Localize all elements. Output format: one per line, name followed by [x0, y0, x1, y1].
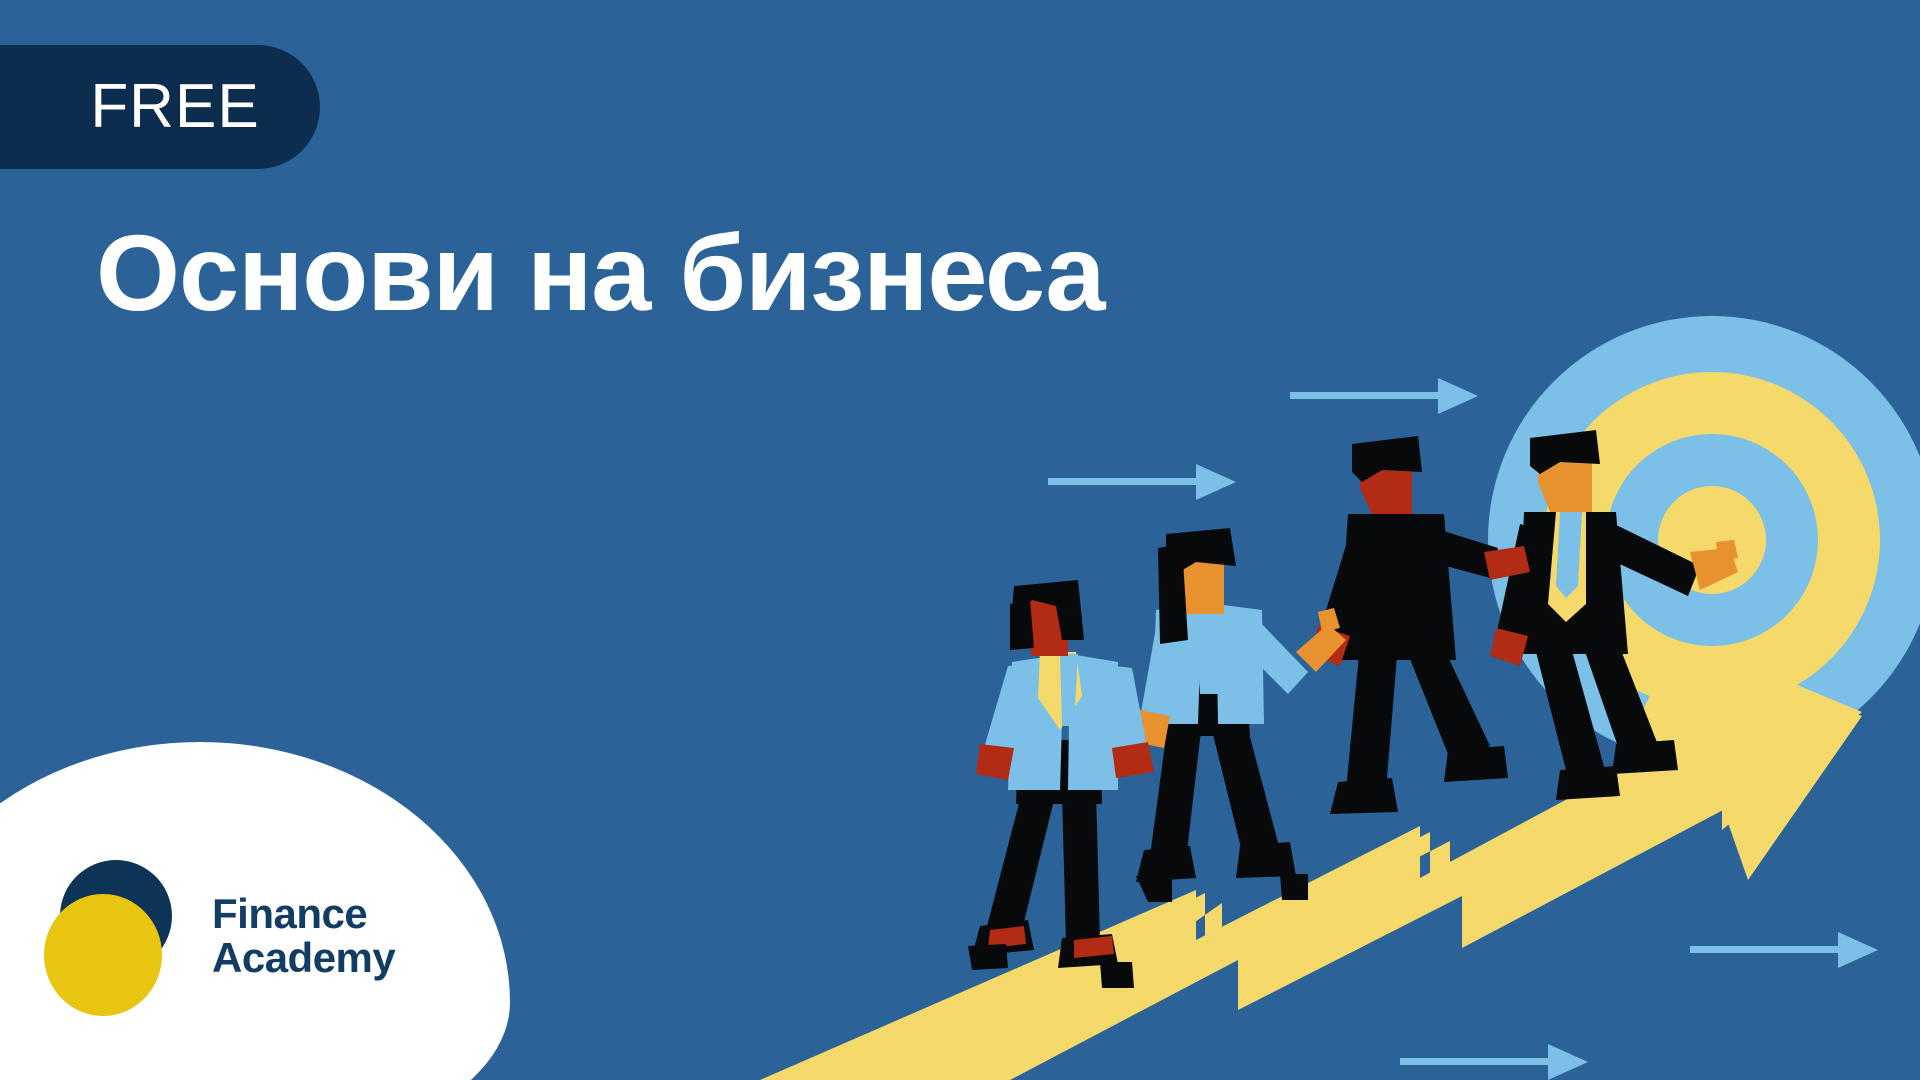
logo-wordmark: Finance Academy	[212, 892, 395, 980]
free-badge-label: FREE	[60, 76, 259, 138]
free-badge: FREE	[0, 45, 320, 169]
banner-canvas: FREE Основи на бизнеса Finance Academy	[0, 0, 1920, 1080]
motion-arrow-icon	[1690, 932, 1878, 968]
logo-gold-circle	[44, 894, 162, 1016]
motion-arrow-icon	[1400, 1044, 1588, 1080]
logo-wordmark-line1: Finance	[212, 892, 395, 936]
upward-growth-arrow-icon	[760, 652, 1862, 1080]
figure-businesswoman-second	[1134, 528, 1346, 902]
motion-arrow-icon	[1048, 464, 1236, 500]
logo-wordmark-line2: Academy	[212, 936, 395, 980]
finance-academy-logo-mark-icon	[38, 860, 190, 1012]
logo-content: Finance Academy	[38, 860, 395, 1012]
brand-logo: Finance Academy	[0, 742, 510, 1080]
page-title: Основи на бизнеса	[96, 214, 1104, 333]
motion-arrow-icon	[1290, 378, 1478, 414]
